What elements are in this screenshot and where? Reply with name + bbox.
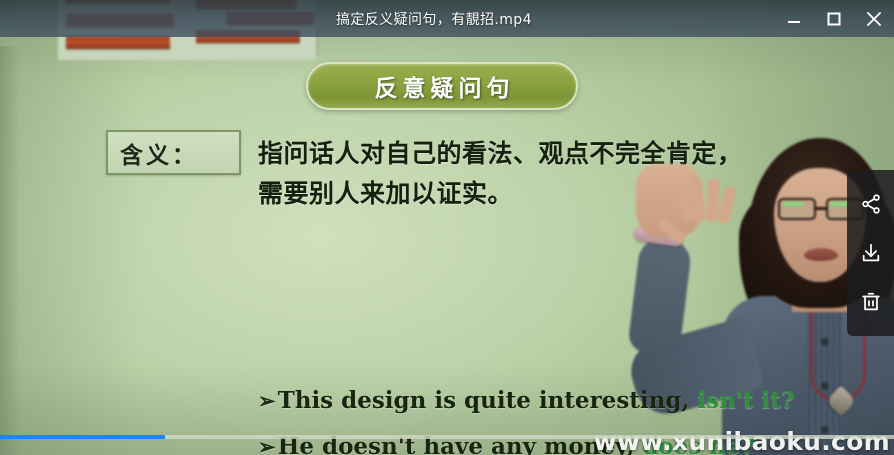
- download-icon: [860, 242, 882, 264]
- example-sentences: ➢This design is quite interesting, isn't…: [258, 378, 798, 455]
- share-button[interactable]: [854, 187, 888, 221]
- window-title: 搞定反义疑问句，有靚招.mp4: [336, 0, 532, 37]
- example-line-1: ➢This design is quite interesting, isn't…: [258, 378, 798, 424]
- slide-title-banner: 反意疑问句: [306, 62, 578, 110]
- video-progress-track[interactable]: [0, 435, 894, 439]
- share-icon: [860, 193, 882, 215]
- minimize-button[interactable]: [774, 0, 814, 37]
- board-edge: [0, 46, 20, 455]
- example-1-tag: isn't it?: [697, 387, 794, 414]
- minimize-icon: [787, 12, 801, 26]
- trash-icon: [860, 291, 882, 313]
- video-player-window: 反意疑问句 含义： 指问话人对自己的看法、观点不完全肯定， 需要别人来加以证实。: [0, 0, 894, 455]
- video-progress-fill: [0, 435, 165, 439]
- maximize-icon: [827, 12, 841, 26]
- bullet-arrow-icon: ➢: [258, 388, 276, 413]
- window-controls: [774, 0, 894, 37]
- meaning-label-text: 含义：: [108, 136, 198, 170]
- close-button[interactable]: [854, 0, 894, 37]
- download-button[interactable]: [854, 236, 888, 270]
- raised-hand: [636, 164, 702, 238]
- slide-title-text: 反意疑问句: [370, 69, 515, 103]
- floating-tool-panel: [847, 170, 894, 336]
- example-line-2: ➢He doesn't have any money, does he?: [258, 424, 798, 455]
- close-icon: [866, 11, 882, 27]
- example-1-main: This design is quite interesting,: [278, 387, 698, 414]
- delete-button[interactable]: [854, 285, 888, 319]
- window-titlebar[interactable]: 搞定反义疑问句，有靚招.mp4: [0, 0, 894, 37]
- video-stage[interactable]: 反意疑问句 含义： 指问话人对自己的看法、观点不完全肯定， 需要别人来加以证实。: [0, 0, 894, 455]
- maximize-button[interactable]: [814, 0, 854, 37]
- meaning-label-box: 含义：: [106, 130, 241, 175]
